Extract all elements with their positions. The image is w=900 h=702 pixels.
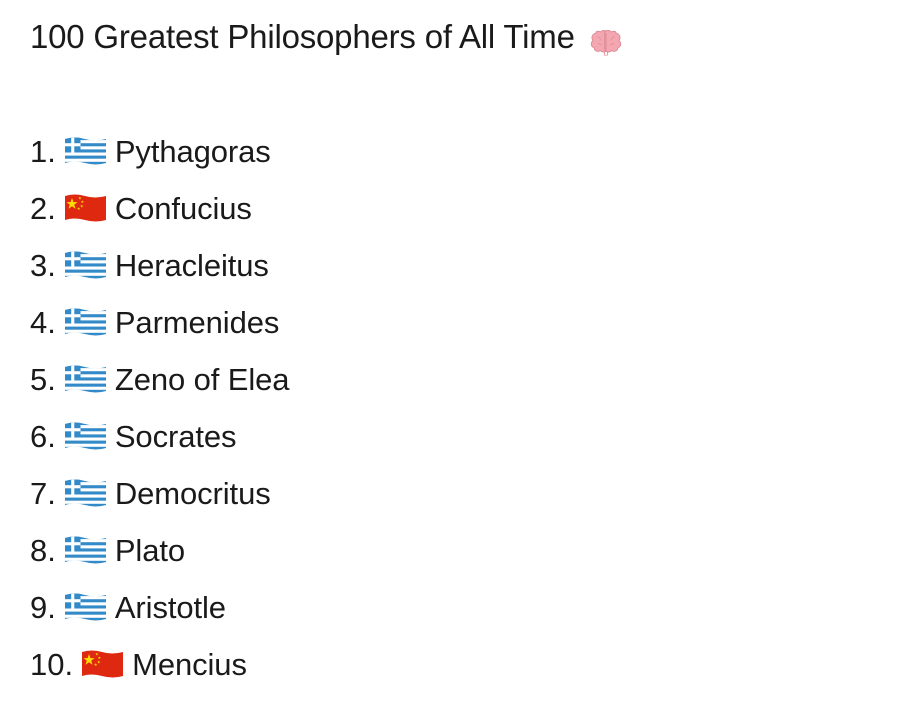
philosophers-list: 1. Pythagoras 2. [30,132,870,693]
list-item-rank: 8. [30,531,56,571]
flag-greece-icon [65,365,106,395]
flag-greece-icon [65,479,106,509]
list-item-rank: 2. [30,189,56,229]
list-item-name: Pythagoras [115,132,271,172]
note-page: 100 Greatest Philosophers of All Time 1. [0,0,900,693]
page-title-text: 100 Greatest Philosophers of All Time [30,18,575,55]
list-item: 4. Parmenides [30,303,870,360]
list-item: 5. Zeno of Elea [30,360,870,417]
list-item-rank: 1. [30,132,56,172]
flag-china-icon [82,650,123,680]
flag-greece-icon [65,593,106,623]
list-item-name: Parmenides [115,303,279,343]
list-item: 7. Democritus [30,474,870,531]
list-item: 6. Socrates [30,417,870,474]
flag-greece-icon [65,536,106,566]
list-item-rank: 9. [30,588,56,628]
list-item-rank: 4. [30,303,56,343]
list-item-name: Democritus [115,474,271,514]
list-item-rank: 5. [30,360,56,400]
list-item-rank: 10. [30,645,73,685]
list-item-rank: 6. [30,417,56,457]
list-item-name: Socrates [115,417,237,457]
list-item-name: Zeno of Elea [115,360,290,400]
flag-greece-icon [65,137,106,167]
list-item-name: Aristotle [115,588,226,628]
list-item: 1. Pythagoras [30,132,870,189]
list-item-rank: 3. [30,246,56,286]
list-item: 2. Confucius [30,189,870,246]
list-item-rank: 7. [30,474,56,514]
list-item-name: Confucius [115,189,252,229]
page-title: 100 Greatest Philosophers of All Time [30,17,623,59]
list-item-name: Heracleitus [115,246,269,286]
flag-greece-icon [65,308,106,338]
list-item-name: Plato [115,531,185,571]
list-item: 9. Aristotle [30,588,870,645]
flag-greece-icon [65,422,106,452]
list-item: 10. Mencius [30,645,870,693]
flag-china-icon [65,194,106,224]
list-item: 3. Heracleitus [30,246,870,303]
list-item-name: Mencius [132,645,247,685]
list-item: 8. Plato [30,531,870,588]
brain-emoji [581,24,623,57]
flag-greece-icon [65,251,106,281]
